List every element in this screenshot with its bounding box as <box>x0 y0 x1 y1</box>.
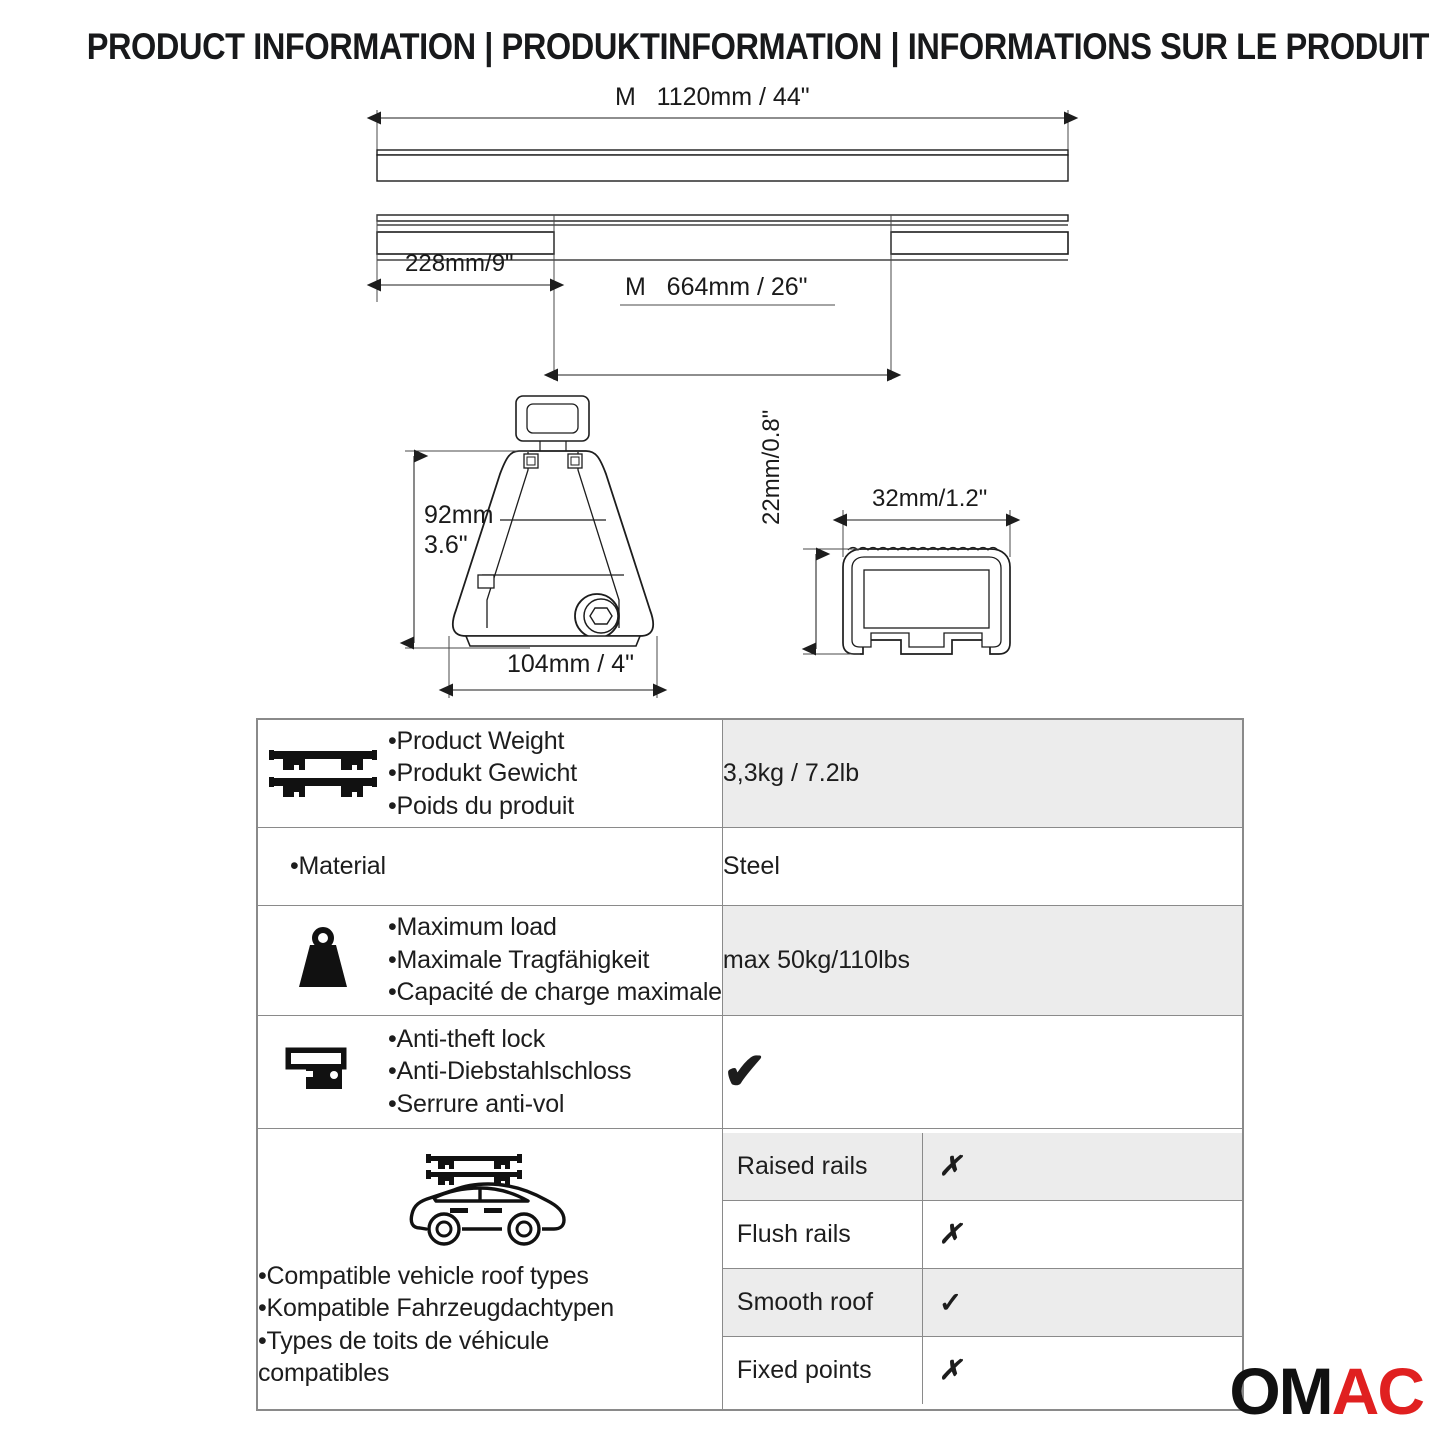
table-row: •Maximum load •Maximale Tragfähigkeit •C… <box>257 905 1243 1015</box>
compat-row-fixed-points: Fixed points ✗ <box>723 1337 1242 1405</box>
compat-name: Fixed points <box>723 1337 923 1405</box>
dimension-profile-height-label: 22mm/0.8" <box>758 410 786 525</box>
material-value: Steel <box>722 827 1243 905</box>
compat-mark: ✗ <box>922 1201 1242 1269</box>
lock-label-cell: •Anti-theft lock •Anti-Diebstahlschloss … <box>257 1015 722 1128</box>
compatibility-label-cell: •Compatible vehicle roof types •Kompatib… <box>257 1128 722 1410</box>
weight-label-cell: •Product Weight •Produkt Gewicht •Poids … <box>257 719 722 827</box>
car-with-rack-icon <box>258 1148 722 1250</box>
specification-table: •Product Weight •Produkt Gewicht •Poids … <box>256 718 1244 1411</box>
compat-row-smooth-roof: Smooth roof ✓ <box>723 1269 1242 1337</box>
compat-name: Raised rails <box>723 1133 923 1201</box>
check-icon: ✓ <box>939 1287 962 1318</box>
dimension-foot-width-label: 104mm / 4" <box>507 650 634 679</box>
compatibility-labels: •Compatible vehicle roof types •Kompatib… <box>258 1260 722 1390</box>
compatibility-sub-table: Raised rails ✗ Flush rails ✗ <box>723 1133 1242 1404</box>
product-information-page: PRODUCT INFORMATION | PRODUKTINFORMATION… <box>0 0 1445 1445</box>
compatibility-options-cell: Raised rails ✗ Flush rails ✗ <box>722 1128 1243 1410</box>
cross-icon: ✗ <box>939 1355 962 1385</box>
logo-text-om: OM <box>1229 1354 1331 1428</box>
dimension-span-label: M 664mm / 26" <box>625 273 808 302</box>
compat-name: Flush rails <box>723 1201 923 1269</box>
check-icon: ✔ <box>723 1043 767 1101</box>
weight-labels: •Product Weight •Produkt Gewicht •Poids … <box>388 725 577 823</box>
material-labels: •Material <box>258 850 386 883</box>
weight-value: 3,3kg / 7.2lb <box>722 719 1243 827</box>
compat-name: Smooth roof <box>723 1269 923 1337</box>
compat-mark: ✓ <box>922 1269 1242 1337</box>
page-title: PRODUCT INFORMATION | PRODUKTINFORMATION… <box>87 26 1359 68</box>
compat-mark: ✗ <box>922 1133 1242 1201</box>
profile-cross-section <box>843 548 1010 655</box>
lock-labels: •Anti-theft lock •Anti-Diebstahlschloss … <box>388 1023 631 1121</box>
dimension-profile-width-label: 32mm/1.2" <box>872 485 987 513</box>
compat-row-raised-rails: Raised rails ✗ <box>723 1133 1242 1201</box>
compat-row-flush-rails: Flush rails ✗ <box>723 1201 1242 1269</box>
compat-mark: ✗ <box>922 1337 1242 1405</box>
table-row: •Anti-theft lock •Anti-Diebstahlschloss … <box>257 1015 1243 1128</box>
cross-icon: ✗ <box>939 1151 962 1181</box>
crossbar-side-view-top <box>377 150 1068 181</box>
table-row: •Material Steel <box>257 827 1243 905</box>
max-load-label-cell: •Maximum load •Maximale Tragfähigkeit •C… <box>257 905 722 1015</box>
table-row: •Product Weight •Produkt Gewicht •Poids … <box>257 719 1243 827</box>
weight-icon <box>258 925 388 995</box>
dimension-foot-height-label: 92mm 3.6" <box>424 500 493 560</box>
cross-icon: ✗ <box>939 1219 962 1249</box>
max-load-value: max 50kg/110lbs <box>722 905 1243 1015</box>
max-load-labels: •Maximum load •Maximale Tragfähigkeit •C… <box>388 911 722 1009</box>
logo-text-ac: AC <box>1332 1354 1423 1428</box>
lock-value: ✔ <box>722 1015 1243 1128</box>
dimension-offset-label: 228mm/9" <box>405 250 514 278</box>
roof-bars-icon <box>258 745 388 801</box>
dimension-total-label: M 1120mm / 44" <box>615 83 810 112</box>
technical-drawing: M 1120mm / 44" 228mm/9" M 664mm / 26" 92… <box>0 70 1445 710</box>
table-row: •Compatible vehicle roof types •Kompatib… <box>257 1128 1243 1410</box>
material-label-cell: •Material <box>257 827 722 905</box>
omac-logo: OMAC <box>1229 1353 1423 1429</box>
lock-icon <box>258 1044 388 1100</box>
